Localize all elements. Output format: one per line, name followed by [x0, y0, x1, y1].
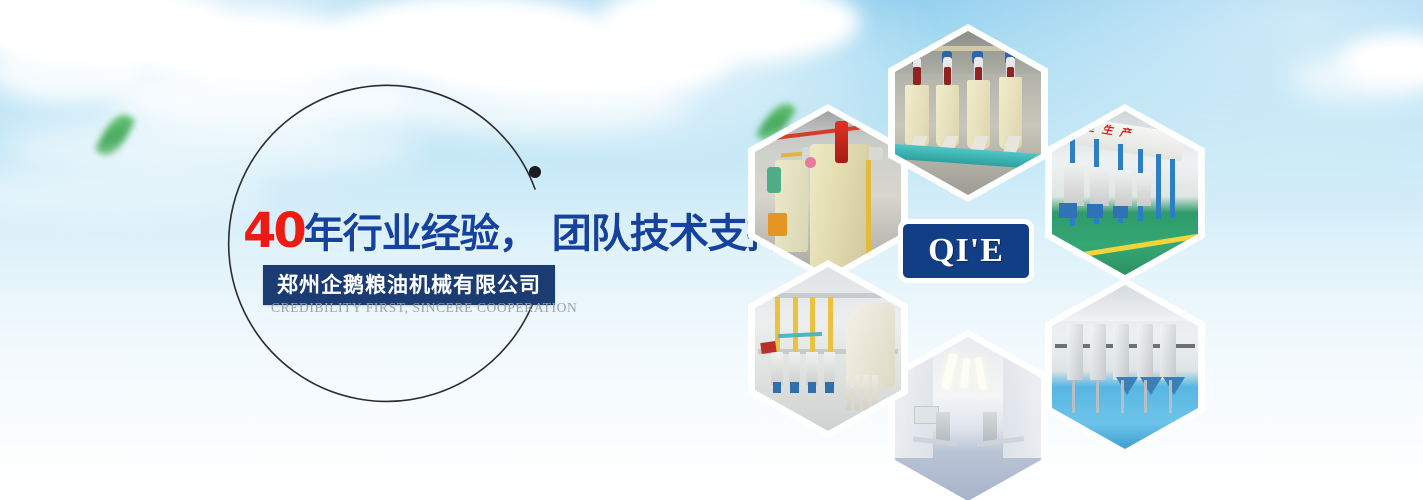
- hex-stainless-plant[interactable]: [1045, 278, 1205, 456]
- photo-stainless-plant: [1052, 285, 1198, 449]
- hex-milling-plant[interactable]: [748, 260, 908, 438]
- hex-clean-room[interactable]: [888, 330, 1048, 500]
- photo-press-workshop: 安全生产: [1052, 111, 1198, 275]
- brand-logo-text: QI'E: [928, 232, 1004, 270]
- photo-hopper-line: [895, 31, 1041, 195]
- brand-logo[interactable]: QI'E: [898, 219, 1034, 283]
- ring-end-dot: [529, 166, 541, 178]
- photo-milling-plant: [755, 267, 901, 431]
- hero-banner: 40年行业经验，团队技术支持 郑州企鹅粮油机械有限公司 CREDIBILITY …: [0, 0, 1423, 500]
- photo-clean-room: [895, 337, 1041, 500]
- years-number: 40: [243, 203, 304, 259]
- hex-press-workshop[interactable]: 安全生产: [1045, 104, 1205, 282]
- hex-hopper-line[interactable]: [888, 24, 1048, 202]
- photo-extraction-plant: [755, 111, 901, 275]
- hex-extraction-plant[interactable]: [748, 104, 908, 282]
- page-title: 40年行业经验，团队技术支持: [243, 207, 786, 255]
- cloud-decoration: [1290, 56, 1423, 100]
- tagline-text: CREDIBILITY FIRST, SINCERE COOPERATION: [271, 300, 577, 316]
- company-name-bar: 郑州企鹅粮油机械有限公司: [263, 265, 555, 305]
- headline-part-1: 年行业经验，: [304, 212, 538, 256]
